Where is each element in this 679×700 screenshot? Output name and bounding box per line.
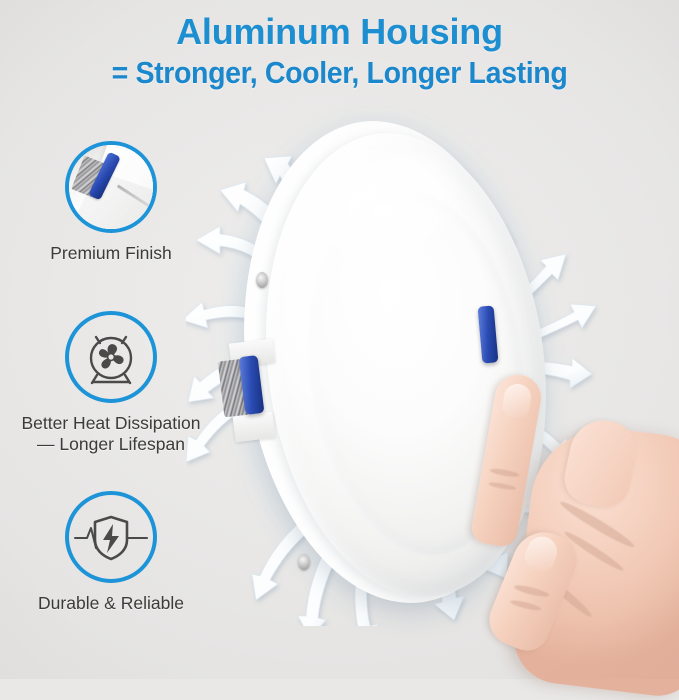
- product-photo-clip-icon: [69, 145, 153, 229]
- page-title: Aluminum Housing = Stronger, Cooler, Lon…: [0, 14, 679, 88]
- fingernail: [501, 382, 533, 420]
- hand-touching-fixture: [472, 372, 679, 692]
- durable-reliable-icon-frame: [65, 491, 157, 583]
- headline-line-1: Aluminum Housing: [0, 14, 679, 50]
- premium-finish-icon-frame: [65, 141, 157, 233]
- shield-bolt-pulse-icon: [73, 506, 149, 568]
- screw-bottom: [298, 554, 310, 570]
- heat-dissipation-icon-frame: [65, 311, 157, 403]
- headline-line-2: = Stronger, Cooler, Longer Lasting: [27, 57, 652, 88]
- screw-top: [256, 272, 268, 288]
- mounting-bracket-lower: [233, 412, 276, 443]
- infographic-canvas: Aluminum Housing = Stronger, Cooler, Lon…: [0, 0, 679, 679]
- fan-icon: [80, 326, 142, 388]
